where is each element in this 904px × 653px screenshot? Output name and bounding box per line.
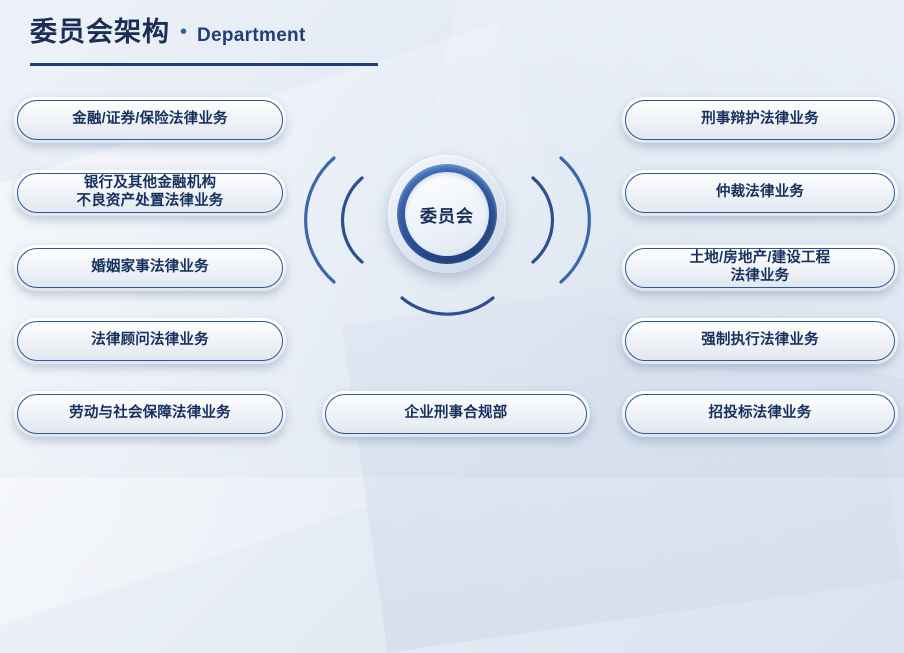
node-right-4[interactable]: 强制执行法律业务 bbox=[622, 318, 898, 364]
node-right-3-label: 土地/房地产/建设工程 法律业务 bbox=[690, 250, 831, 285]
page-title-en: Department bbox=[197, 25, 306, 47]
node-right-1-inner: 刑事辩护法律业务 bbox=[625, 100, 895, 140]
node-left-5-line1: 劳动与社会保障法律业务 bbox=[69, 405, 231, 421]
page-header: 委员会架构 • Department bbox=[30, 10, 450, 66]
page-title-cn: 委员会架构 bbox=[30, 10, 170, 49]
node-left-4-label: 法律顾问法律业务 bbox=[91, 332, 209, 350]
node-left-5-inner: 劳动与社会保障法律业务 bbox=[17, 394, 283, 434]
node-right-5-label: 招投标法律业务 bbox=[709, 405, 812, 423]
node-left-3-inner: 婚姻家事法律业务 bbox=[17, 248, 283, 288]
node-right-3-inner: 土地/房地产/建设工程 法律业务 bbox=[625, 248, 895, 288]
node-left-3-line1: 婚姻家事法律业务 bbox=[91, 259, 209, 275]
node-left-4[interactable]: 法律顾问法律业务 bbox=[14, 318, 286, 364]
node-right-4-line1: 强制执行法律业务 bbox=[701, 332, 819, 348]
hub-label: 委员会 bbox=[420, 202, 474, 227]
hub-inner-circle: 委员会 bbox=[405, 172, 489, 256]
title-row: 委员会架构 • Department bbox=[30, 10, 450, 49]
node-right-3-line2: 法律业务 bbox=[690, 268, 831, 286]
node-left-3[interactable]: 婚姻家事法律业务 bbox=[14, 245, 286, 291]
node-bottom-center-label: 企业刑事合规部 bbox=[405, 405, 508, 423]
node-left-2[interactable]: 银行及其他金融机构 不良资产处置法律业务 bbox=[14, 170, 286, 216]
node-right-1[interactable]: 刑事辩护法律业务 bbox=[622, 97, 898, 143]
node-bottom-center-line1: 企业刑事合规部 bbox=[405, 405, 508, 421]
node-right-3[interactable]: 土地/房地产/建设工程 法律业务 bbox=[622, 245, 898, 291]
node-right-4-label: 强制执行法律业务 bbox=[701, 332, 819, 350]
node-left-1[interactable]: 金融/证券/保险法律业务 bbox=[14, 97, 286, 143]
node-left-4-inner: 法律顾问法律业务 bbox=[17, 321, 283, 361]
node-left-4-line1: 法律顾问法律业务 bbox=[91, 332, 209, 348]
node-left-2-inner: 银行及其他金融机构 不良资产处置法律业务 bbox=[17, 173, 283, 213]
node-right-4-inner: 强制执行法律业务 bbox=[625, 321, 895, 361]
node-right-2-inner: 仲裁法律业务 bbox=[625, 173, 895, 213]
node-left-1-inner: 金融/证券/保险法律业务 bbox=[17, 100, 283, 140]
node-right-3-line1: 土地/房地产/建设工程 bbox=[690, 250, 831, 266]
node-left-5-label: 劳动与社会保障法律业务 bbox=[69, 405, 231, 423]
node-left-1-line1: 金融/证券/保险法律业务 bbox=[72, 111, 227, 127]
node-left-2-line1: 银行及其他金融机构 bbox=[84, 175, 216, 191]
title-separator-dot: • bbox=[180, 22, 187, 42]
node-left-2-line2: 不良资产处置法律业务 bbox=[77, 193, 224, 211]
node-right-2-label: 仲裁法律业务 bbox=[716, 184, 804, 202]
node-left-2-label: 银行及其他金融机构 不良资产处置法律业务 bbox=[77, 175, 224, 210]
node-right-5-inner: 招投标法律业务 bbox=[625, 394, 895, 434]
node-right-5-line1: 招投标法律业务 bbox=[709, 405, 812, 421]
node-right-5[interactable]: 招投标法律业务 bbox=[622, 391, 898, 437]
node-right-2-line1: 仲裁法律业务 bbox=[716, 184, 804, 200]
node-bottom-center[interactable]: 企业刑事合规部 bbox=[322, 391, 590, 437]
node-right-1-label: 刑事辩护法律业务 bbox=[701, 111, 819, 129]
node-right-2[interactable]: 仲裁法律业务 bbox=[622, 170, 898, 216]
center-hub: 委员会 bbox=[388, 155, 506, 273]
node-right-1-line1: 刑事辩护法律业务 bbox=[701, 111, 819, 127]
title-underline bbox=[30, 63, 378, 66]
background-decoration-bottom bbox=[341, 253, 902, 652]
node-left-5[interactable]: 劳动与社会保障法律业务 bbox=[14, 391, 286, 437]
node-bottom-center-inner: 企业刑事合规部 bbox=[325, 394, 587, 434]
node-left-3-label: 婚姻家事法律业务 bbox=[91, 259, 209, 277]
node-left-1-label: 金融/证券/保险法律业务 bbox=[72, 111, 227, 129]
